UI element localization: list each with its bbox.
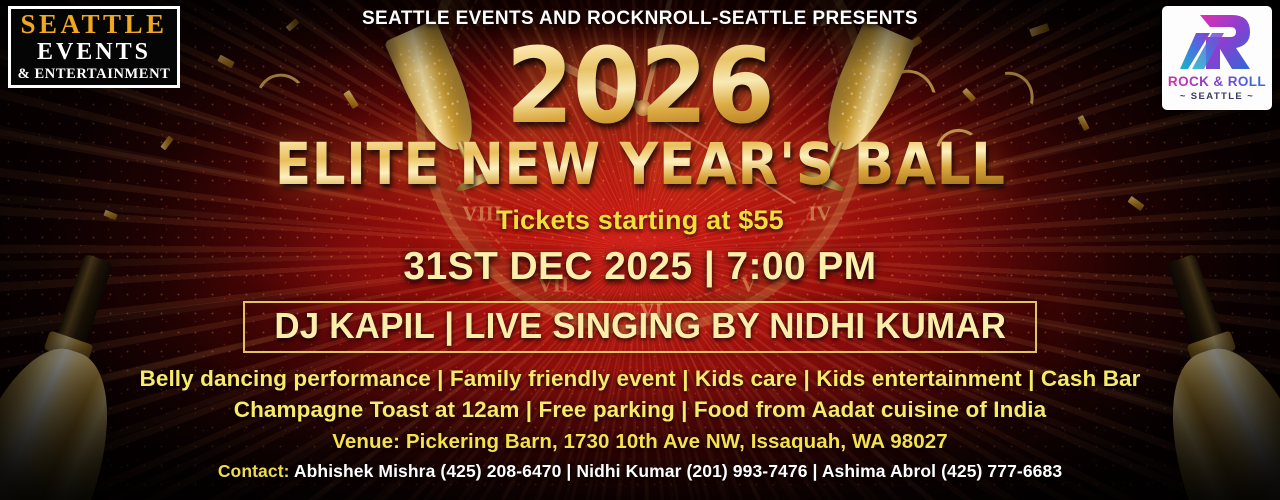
contact-value: Abhishek Mishra (425) 208-6470 | Nidhi K…	[290, 461, 1063, 481]
logo-line-entertainment: & ENTERTAINMENT	[18, 66, 171, 83]
rocknroll-seattle-logo: ROCK & ROLL ~ SEATTLE ~	[1162, 6, 1272, 110]
year-title: 2026	[506, 32, 774, 140]
contact-line: Contact: Abhishek Mishra (425) 208-6470 …	[218, 461, 1062, 482]
rocknroll-r-monogram-icon	[1180, 11, 1254, 73]
performers-box: DJ KAPIL | LIVE SINGING BY NIDHI KUMAR	[243, 301, 1037, 353]
event-headline: ELITE NEW YEAR'S BALL	[275, 134, 1006, 195]
contact-label: Contact:	[218, 461, 290, 481]
event-banner: XIIIIIIIIIVVVIVIIVIIIIXXXI ♠ ♠	[0, 0, 1280, 500]
logo-line-seattle: SEATTLE	[20, 11, 167, 39]
rocknroll-logo-sub: ~ SEATTLE ~	[1180, 91, 1254, 102]
event-datetime: 31ST DEC 2025 | 7:00 PM	[403, 245, 876, 289]
features-line-1: Belly dancing performance | Family frien…	[139, 364, 1140, 394]
banner-content: SEATTLE EVENTS AND ROCKNROLL-SEATTLE PRE…	[0, 0, 1280, 500]
performers-line: DJ KAPIL | LIVE SINGING BY NIDHI KUMAR	[274, 307, 1006, 345]
venue-line: Venue: Pickering Barn, 1730 10th Ave NW,…	[332, 430, 947, 454]
seattle-events-logo: SEATTLE EVENTS & ENTERTAINMENT	[8, 6, 180, 88]
ticket-price-line: Tickets starting at $55	[496, 205, 784, 236]
logo-line-events: EVENTS	[37, 39, 151, 66]
features-line-2: Champagne Toast at 12am | Free parking |…	[234, 395, 1047, 425]
rocknroll-logo-name: ROCK & ROLL	[1168, 74, 1266, 89]
